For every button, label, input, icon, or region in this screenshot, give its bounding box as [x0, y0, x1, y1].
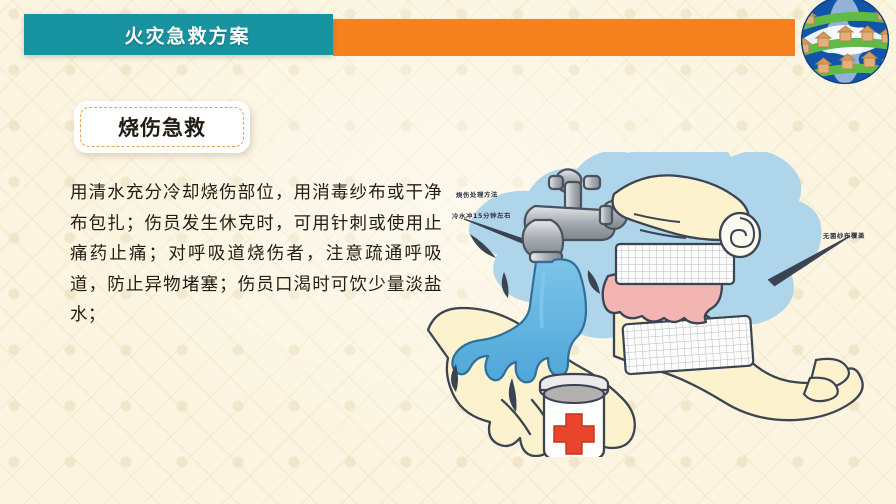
section-heading-text: 烧伤急救 — [74, 101, 250, 153]
header-orange-band — [333, 19, 795, 56]
slide-canvas: 火灾急救方案 — [0, 0, 896, 504]
page-title: 火灾急救方案 — [24, 21, 333, 48]
gauze-roll — [720, 213, 760, 257]
section-heading-box: 烧伤急救 — [74, 101, 250, 153]
header-teal-band: 火灾急救方案 — [24, 14, 333, 55]
section-body-text: 用清水充分冷却烧伤部位，用消毒纱布或干净布包扎；伤员发生休克时，可用针刺或使用止… — [70, 178, 442, 331]
caption-method: 烧伤处理方法 — [456, 190, 498, 200]
medicine-jar-red-cross — [540, 374, 608, 457]
caption-duration: 冷水冲15分钟左右 — [452, 210, 511, 220]
globe-houses-logo — [792, 0, 896, 92]
caption-gauze: 无菌纱布覆盖 — [823, 231, 865, 241]
